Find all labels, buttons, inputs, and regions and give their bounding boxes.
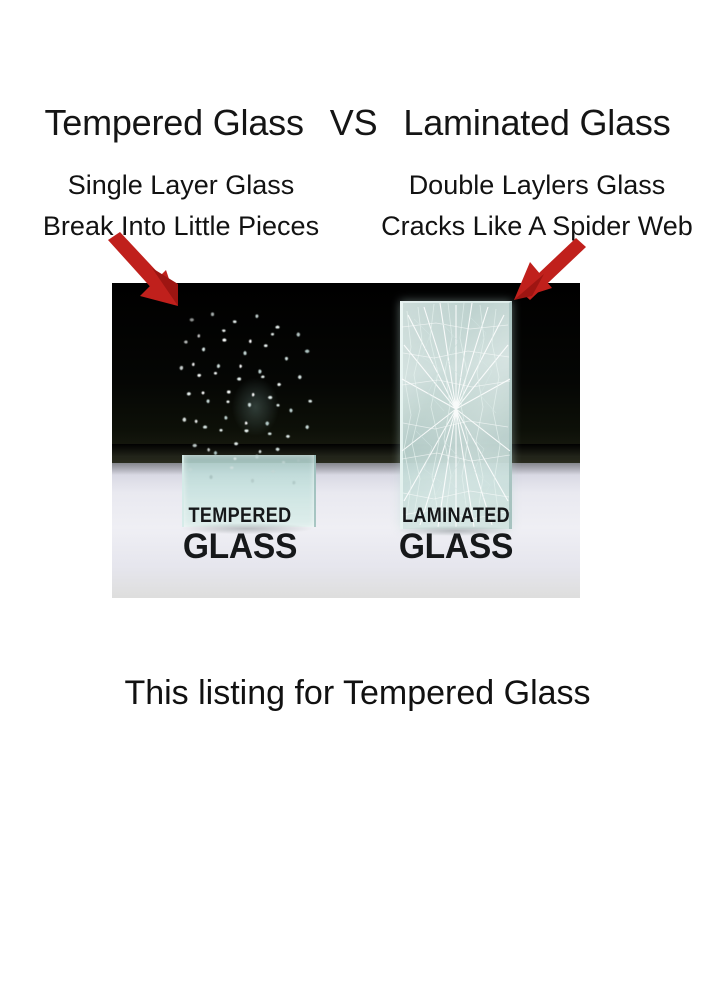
headline-left-label: Tempered Glass [44, 101, 303, 145]
laminated-description-line1: Double Laylers Glass [361, 165, 713, 206]
comparison-photo: TEMPERED GLASS LAMINATED GLASS [112, 283, 580, 598]
spider-web-crack-pattern [400, 301, 512, 529]
tempered-glass-pane [174, 305, 322, 527]
crack-lines-svg [400, 301, 512, 529]
laminated-glass-pane [400, 301, 512, 529]
photo-caption-tempered-small: TEMPERED [156, 505, 325, 527]
laminated-description-line2: Cracks Like A Spider Web [361, 206, 713, 247]
tempered-shards-highlights [178, 311, 317, 489]
page-title: Tempered GlassVSLaminated Glass [0, 101, 715, 145]
photo-caption-laminated-small: LAMINATED [372, 505, 541, 527]
tempered-description-line1: Single Layer Glass [6, 165, 356, 206]
laminated-description: Double Laylers Glass Cracks Like A Spide… [361, 165, 713, 247]
photo-caption-laminated: LAMINATED GLASS [358, 505, 554, 564]
photo-caption-tempered-big: GLASS [146, 529, 334, 564]
comparison-captions: Single Layer Glass Break Into Little Pie… [0, 165, 715, 247]
tempered-description-line2: Break Into Little Pieces [6, 206, 356, 247]
photo-caption-laminated-big: GLASS [362, 529, 550, 564]
tempered-description: Single Layer Glass Break Into Little Pie… [6, 165, 356, 247]
headline-vs-label: VS [330, 101, 378, 145]
headline-right-label: Laminated Glass [403, 101, 670, 145]
listing-note: This listing for Tempered Glass [0, 670, 715, 716]
photo-caption-tempered: TEMPERED GLASS [142, 505, 338, 564]
infographic-page: Tempered GlassVSLaminated Glass Single L… [0, 0, 715, 1002]
